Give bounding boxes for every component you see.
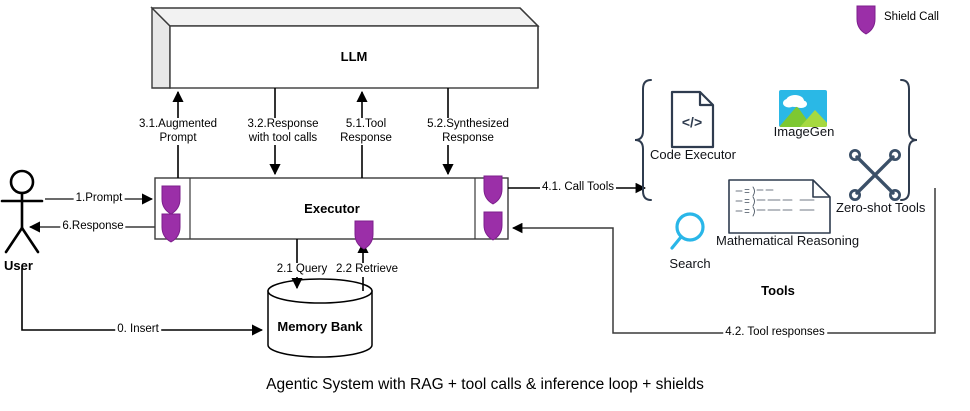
image-picture-icon	[779, 90, 831, 127]
crossed-wrenches-icon	[850, 150, 899, 199]
edge-label-insert: 0. Insert	[115, 323, 161, 337]
diagram-vector-layer: </>	[0, 0, 970, 411]
user-label: User	[4, 258, 33, 273]
user-node-shape	[2, 171, 42, 252]
edge-label-tool-responses: 4.2. Tool responses	[723, 326, 827, 340]
llm-node-shape	[152, 8, 538, 88]
shield-icon-legend	[857, 6, 875, 34]
tool-label-imagegen: ImageGen	[774, 124, 835, 139]
edge-insert	[22, 268, 262, 330]
tool-label-code-executor: Code Executor	[650, 147, 736, 162]
edge-label-prompt: 1.Prompt	[74, 192, 125, 206]
code-document-icon: </>	[672, 92, 713, 147]
svg-text:</>: </>	[682, 114, 702, 130]
magnifier-icon	[672, 214, 703, 248]
shield-icon-memory	[355, 221, 373, 249]
tool-label-zero-shot: Zero-shot Tools	[836, 200, 916, 215]
edge-label-synthesized-response: 5.2.Synthesized Response	[418, 118, 518, 145]
tools-group-label: Tools	[761, 283, 795, 298]
memory-bank-label: Memory Bank	[277, 319, 362, 334]
edge-label-response: 6.Response	[60, 220, 125, 234]
formula-document-icon	[729, 180, 830, 233]
tool-label-search: Search	[669, 256, 710, 271]
llm-label: LLM	[341, 49, 368, 64]
edge-label-retrieve: 2.2 Retrieve	[334, 263, 400, 277]
diagram-canvas: </>	[0, 0, 970, 411]
memory-bank-node-shape	[268, 279, 372, 357]
edge-label-call-tools: 4.1. Call Tools	[540, 181, 616, 195]
diagram-caption: Agentic System with RAG + tool calls & i…	[266, 376, 704, 394]
edge-label-response-tool-calls: 3.2.Response with tool calls	[233, 118, 333, 145]
legend-shield-label: Shield Call	[884, 11, 939, 25]
edge-label-augmented-prompt: 3.1.Augmented Prompt	[136, 118, 220, 145]
edge-label-tool-response: 5.1.Tool Response	[328, 118, 404, 145]
tool-label-math-reasoning: Mathematical Reasoning	[716, 233, 846, 248]
edge-label-query: 2.1 Query	[275, 263, 330, 277]
executor-label: Executor	[304, 201, 360, 216]
